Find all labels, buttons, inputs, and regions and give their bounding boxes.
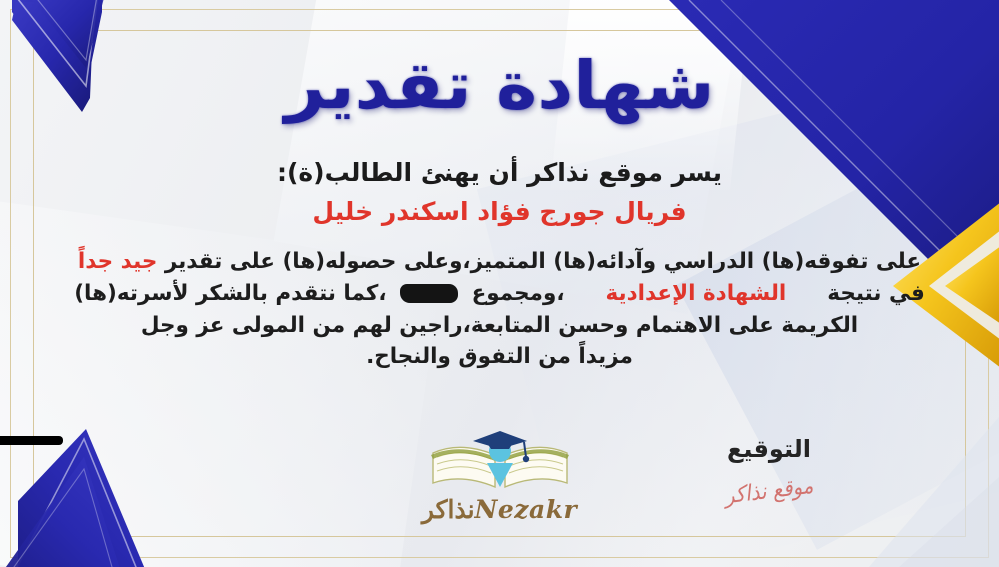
- certificate-page: شهادة تقدير يسر موقع نذاكر أن يهنئ الطال…: [0, 0, 999, 567]
- grade-value: جيد جداً: [78, 249, 157, 274]
- congratulation-line: يسر موقع نذاكر أن يهنئ الطالب(ة):: [60, 158, 940, 187]
- achievement-paragraph: على تفوقه(ها) الدراسي وآدائه(ها) المتميز…: [60, 246, 940, 373]
- paragraph-line3-text: على تفوقه(ها) الدراسي وآدائه(ها) المتميز…: [165, 249, 921, 274]
- certificate-footer: التوقيع موقع نذاكر: [0, 425, 999, 545]
- student-name: فريال جورج فؤاد اسكندر خليل: [60, 197, 940, 226]
- certificate-title: شهادة تقدير: [285, 53, 715, 119]
- title-area: شهادة تقدير: [0, 30, 999, 142]
- logo-mark: [425, 425, 575, 493]
- certificate-body: يسر موقع نذاكر أن يهنئ الطالب(ة): فريال …: [60, 158, 940, 373]
- total-score-redaction: [400, 284, 458, 303]
- certificate-stage: الشهادة الإعدادية: [605, 281, 786, 306]
- paragraph-line6: مزيداً من التفوق والنجاح.: [366, 344, 633, 369]
- logo-wordmark: Nezakrنذاكر: [422, 495, 577, 524]
- certificate-content: شهادة تقدير يسر موقع نذاكر أن يهنئ الطال…: [0, 0, 999, 567]
- logo-text-arabic: نذاكر: [422, 495, 475, 524]
- paragraph-line5: الكريمة على الاهتمام وحسن المتابعة،راجين…: [141, 313, 858, 338]
- graduate-book-icon: [425, 425, 575, 493]
- brand-logo: Nezakrنذاكر: [0, 425, 999, 524]
- paragraph-line4-c: ،كما نتقدم بالشكر لأسرته(ها): [74, 281, 386, 306]
- paragraph-line4-b: ،ومجموع: [472, 281, 565, 306]
- paragraph-line4-a: في نتيجة: [827, 281, 924, 306]
- logo-text-latin: Nezakr: [475, 495, 578, 524]
